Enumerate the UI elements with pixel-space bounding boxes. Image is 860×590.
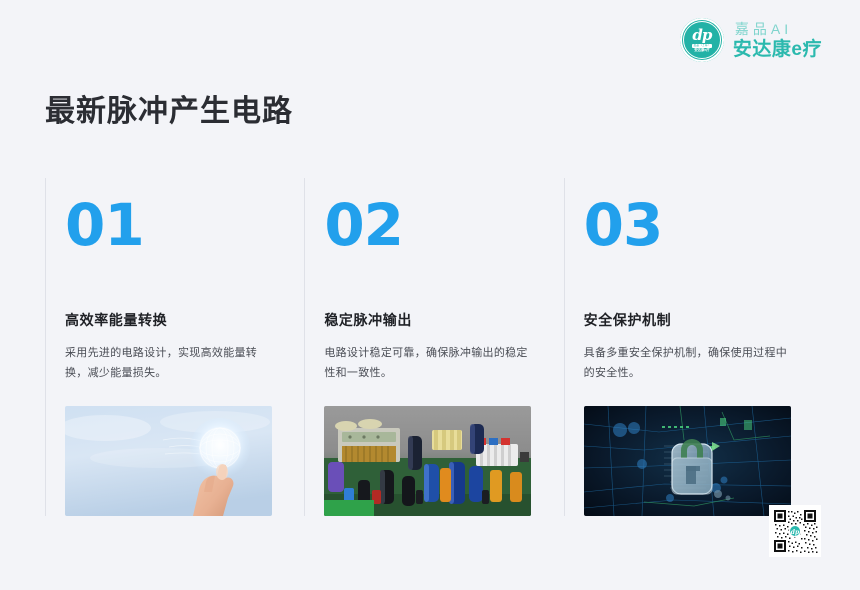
card-image-circuit-board-capacitors [324, 406, 531, 516]
brand-line-primary: 嘉品AI [733, 22, 792, 36]
brand-wordmark: 嘉品AI 安达康e疗 [733, 22, 822, 59]
card-number: 02 [324, 196, 537, 254]
feature-card-02: 02 稳定脉冲输出 电路设计稳定可靠，确保脉冲输出的稳定性和一致性。 [304, 178, 563, 516]
card-heading: 稳定脉冲输出 [324, 310, 537, 330]
card-heading: 安全保护机制 [584, 310, 797, 330]
card-image-cyber-security-padlock-circuit [584, 406, 791, 516]
brand-header: dp 嘉品（上海） 安达康e疗 嘉品AI 安达康e疗 [680, 18, 822, 62]
page-title: 最新脉冲产生电路 [45, 86, 293, 130]
feature-card-list: 01 高效率能量转换 采用先进的电路设计，实现高效能量转换，减少能量损失。 [45, 178, 823, 516]
feature-card-01: 01 高效率能量转换 采用先进的电路设计，实现高效能量转换，减少能量损失。 [45, 178, 304, 516]
card-heading: 高效率能量转换 [65, 310, 278, 330]
brand-logo-glyph: dp [692, 28, 711, 43]
wechat-qr-code[interactable]: dp [769, 505, 821, 557]
brand-logo-subtext-2: 安达康e疗 [694, 49, 709, 52]
card-number: 01 [65, 196, 278, 254]
svg-text:dp: dp [791, 529, 800, 536]
card-description: 电路设计稳定可靠，确保脉冲输出的稳定性和一致性。 [324, 343, 537, 384]
brand-line-secondary: 安达康e疗 [733, 40, 822, 59]
feature-card-03: 03 安全保护机制 具备多重安全保护机制，确保使用过程中的安全性。 [564, 178, 823, 516]
brand-logo-icon: dp 嘉品（上海） 安达康e疗 [680, 18, 724, 62]
brand-logo-inner-ring: dp 嘉品（上海） 安达康e疗 [683, 21, 721, 59]
card-image-hand-holding-glowing-energy-sphere [65, 406, 272, 516]
card-description: 采用先进的电路设计，实现高效能量转换，减少能量损失。 [65, 343, 278, 384]
card-description: 具备多重安全保护机制，确保使用过程中的安全性。 [584, 343, 797, 384]
card-number: 03 [584, 196, 797, 254]
